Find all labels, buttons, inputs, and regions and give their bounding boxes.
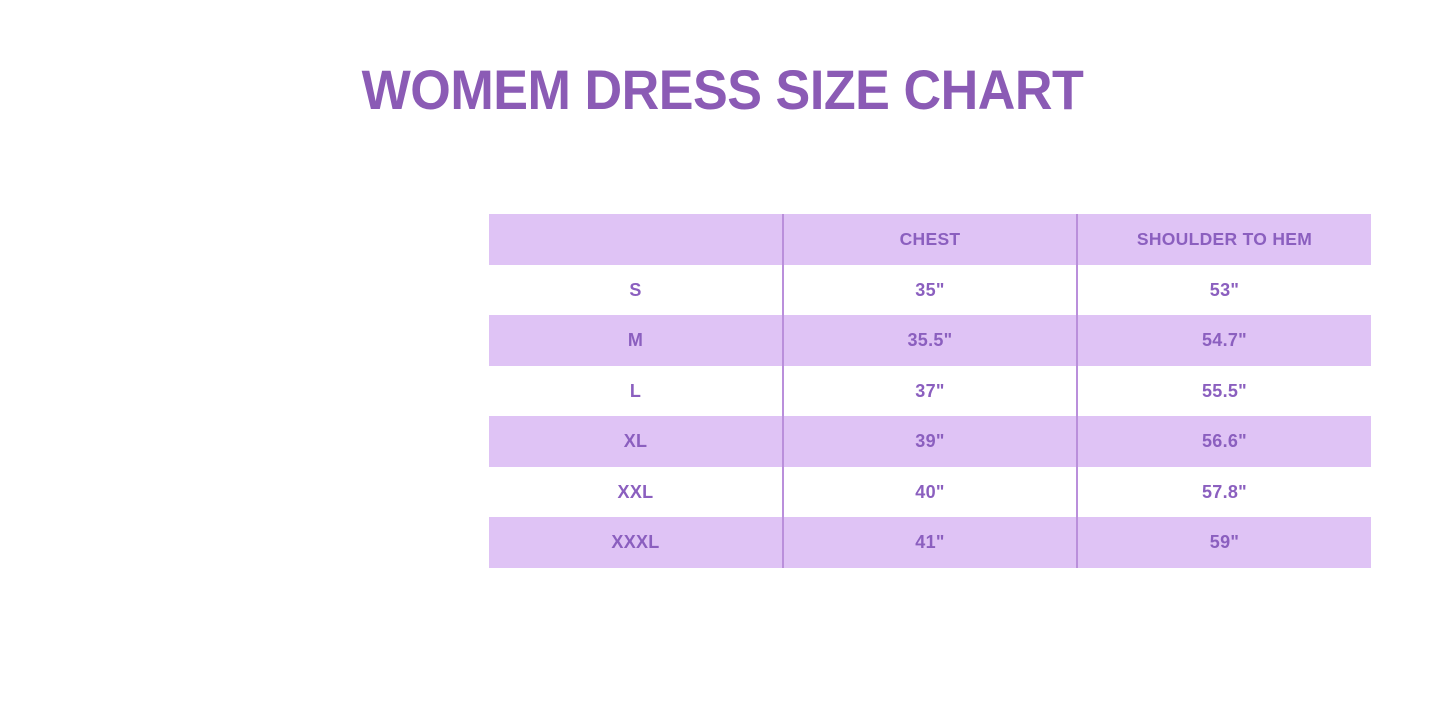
column-header-size — [489, 214, 783, 265]
cell-chest: 40" — [783, 467, 1077, 518]
cell-shoulder-to-hem: 54.7" — [1077, 315, 1371, 366]
table-row: L 37" 55.5" — [489, 366, 1371, 417]
column-header-shoulder-to-hem: SHOULDER TO HEM — [1077, 214, 1371, 265]
cell-shoulder-to-hem: 59" — [1077, 517, 1371, 568]
table-header: CHEST SHOULDER TO HEM — [489, 214, 1371, 265]
table-row: M 35.5" 54.7" — [489, 315, 1371, 366]
column-header-chest: CHEST — [783, 214, 1077, 265]
cell-shoulder-to-hem: 53" — [1077, 265, 1371, 316]
cell-chest: 37" — [783, 366, 1077, 417]
cell-size: M — [489, 315, 783, 366]
cell-chest: 35.5" — [783, 315, 1077, 366]
cell-size: XXXL — [489, 517, 783, 568]
table-row: XXXL 41" 59" — [489, 517, 1371, 568]
table-row: S 35" 53" — [489, 265, 1371, 316]
table-body: S 35" 53" M 35.5" 54.7" L 37" 55.5" XL 3… — [489, 265, 1371, 568]
size-chart-page: { "title": "WOMEM DRESS SIZE CHART", "co… — [0, 0, 1445, 723]
cell-size: S — [489, 265, 783, 316]
size-chart-table-container: CHEST SHOULDER TO HEM S 35" 53" M 35.5" … — [489, 214, 1371, 568]
size-chart-table: CHEST SHOULDER TO HEM S 35" 53" M 35.5" … — [489, 214, 1371, 568]
cell-size: L — [489, 366, 783, 417]
cell-shoulder-to-hem: 56.6" — [1077, 416, 1371, 467]
cell-chest: 35" — [783, 265, 1077, 316]
table-row: XXL 40" 57.8" — [489, 467, 1371, 518]
cell-shoulder-to-hem: 55.5" — [1077, 366, 1371, 417]
cell-chest: 39" — [783, 416, 1077, 467]
cell-size: XL — [489, 416, 783, 467]
table-row: XL 39" 56.6" — [489, 416, 1371, 467]
table-header-row: CHEST SHOULDER TO HEM — [489, 214, 1371, 265]
page-title: WOMEM DRESS SIZE CHART — [51, 55, 1395, 125]
cell-shoulder-to-hem: 57.8" — [1077, 467, 1371, 518]
cell-chest: 41" — [783, 517, 1077, 568]
cell-size: XXL — [489, 467, 783, 518]
